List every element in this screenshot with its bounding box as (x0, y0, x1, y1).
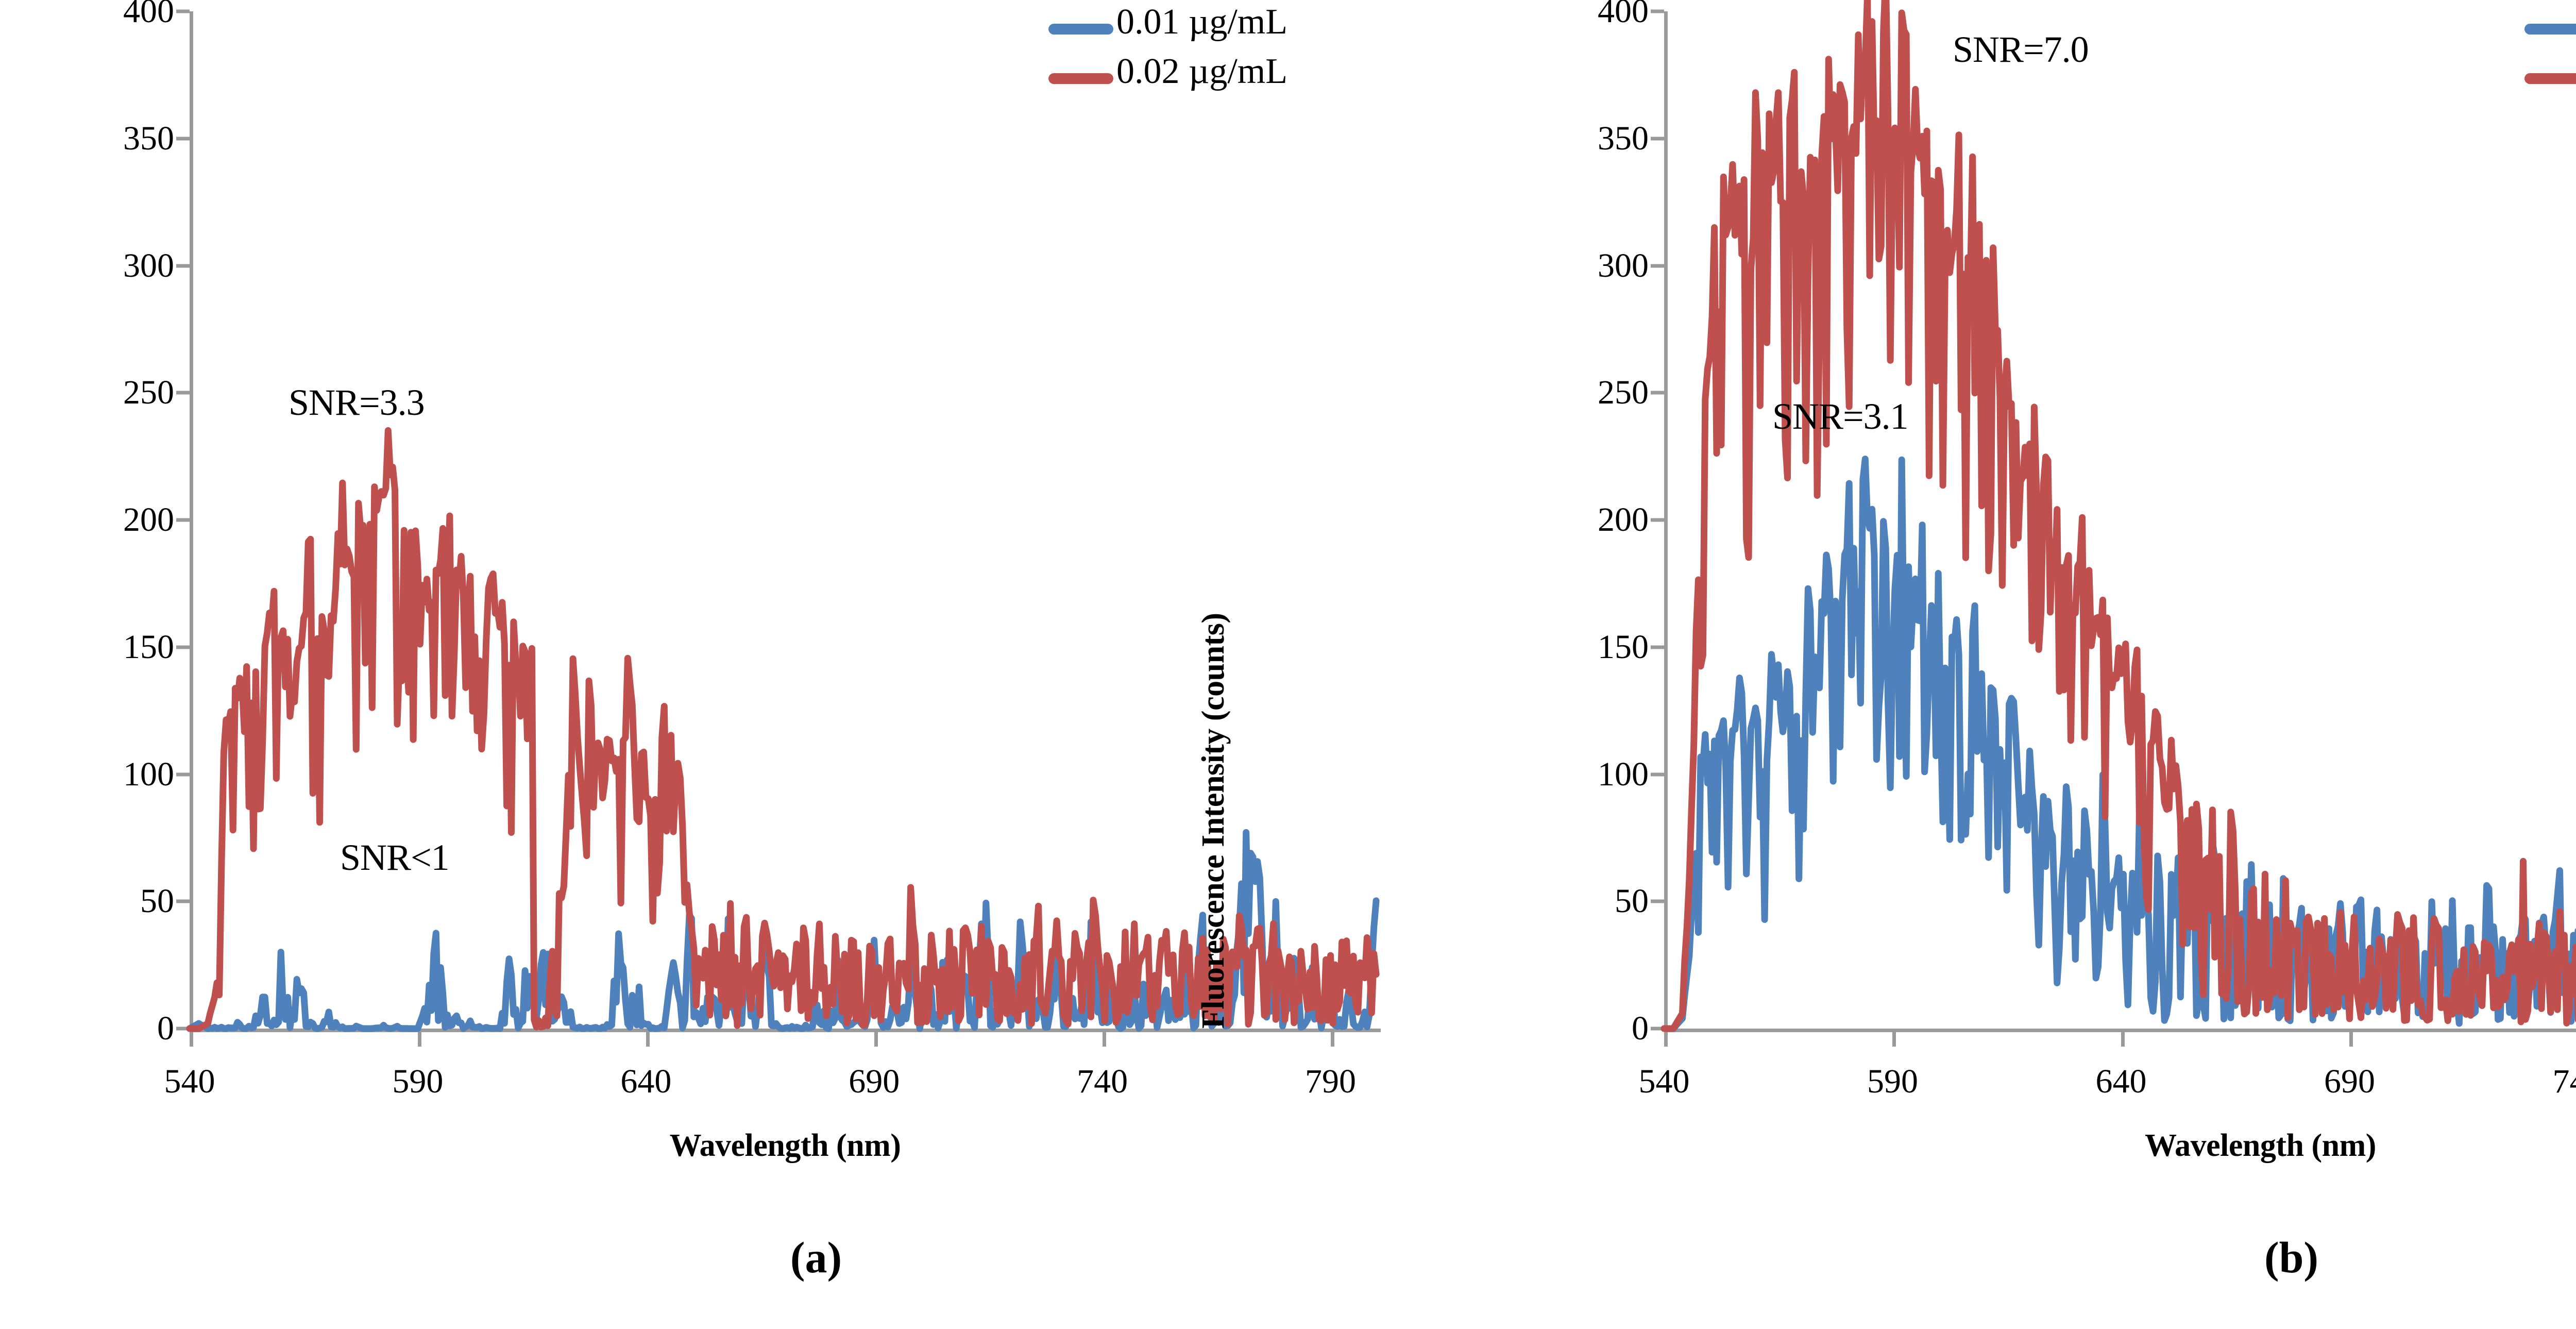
legend-swatch-b-1 (2524, 73, 2576, 84)
y-tick-mark-a-0 (176, 1027, 190, 1031)
legend-label-a-0: 0.01 µg/mL (1116, 4, 1287, 40)
y-tick-mark-a-150 (176, 645, 190, 649)
y-tick-mark-a-350 (176, 137, 190, 140)
x-tick-label-a-540: 540 (164, 1065, 215, 1099)
y-tick-label-a-100: 100 (56, 758, 174, 792)
x-tick-label-b-590: 590 (1867, 1065, 1918, 1099)
x-tick-mark-a-640 (646, 1032, 650, 1047)
y-tick-label-b-150: 150 (1530, 630, 1649, 664)
x-tick-label-b-640: 640 (2095, 1065, 2146, 1099)
x-tick-mark-b-640 (2121, 1032, 2125, 1047)
y-tick-label-a-200: 200 (56, 503, 174, 537)
y-axis-label-b: Fluorescence Intensity (counts) (1195, 613, 1232, 1029)
figure-container: Fluorescence Intensity (counts)050100150… (0, 0, 2576, 1329)
y-tick-label-a-150: 150 (56, 630, 174, 664)
y-tick-label-b-350: 350 (1530, 122, 1649, 156)
x-tick-mark-a-540 (190, 1032, 193, 1047)
y-tick-label-b-100: 100 (1530, 758, 1649, 792)
y-tick-label-a-50: 50 (56, 884, 174, 918)
series-line-b-low (1664, 459, 2576, 1029)
x-tick-label-b-540: 540 (1639, 1065, 1690, 1099)
y-tick-label-b-400: 400 (1530, 0, 1649, 28)
y-tick-label-a-350: 350 (56, 122, 174, 156)
x-tick-mark-a-740 (1103, 1032, 1106, 1047)
legend-swatch-b-0 (2524, 24, 2576, 35)
x-tick-mark-b-590 (1892, 1032, 1896, 1047)
y-tick-mark-b-400 (1651, 10, 1664, 13)
y-tick-mark-a-250 (176, 391, 190, 395)
x-tick-label-a-690: 690 (849, 1065, 900, 1099)
y-axis-line-b (1664, 11, 1668, 1029)
annotation-b-2: SNR=3.1 (1772, 398, 1908, 435)
legend-label-a-1: 0.02 µg/mL (1116, 54, 1287, 90)
y-tick-label-b-250: 250 (1530, 376, 1649, 410)
y-tick-mark-a-50 (176, 900, 190, 903)
x-axis-label-a: Wavelength (nm) (670, 1128, 901, 1164)
y-tick-label-b-300: 300 (1530, 249, 1649, 283)
x-tick-mark-a-590 (418, 1032, 421, 1047)
y-tick-mark-b-100 (1651, 772, 1664, 776)
chart-panel-b: Fluorescence Intensity (counts)050100150… (0, 0, 2576, 1329)
y-tick-mark-a-200 (176, 518, 190, 522)
y-tick-mark-b-0 (1651, 1027, 1664, 1031)
y-tick-mark-b-200 (1651, 518, 1664, 522)
y-tick-mark-a-300 (176, 264, 190, 267)
y-tick-label-b-0: 0 (1530, 1012, 1649, 1046)
x-tick-mark-b-540 (1664, 1032, 1668, 1047)
x-tick-label-a-590: 590 (392, 1065, 443, 1099)
y-tick-mark-a-100 (176, 772, 190, 776)
y-tick-label-a-0: 0 (56, 1012, 174, 1046)
y-tick-label-b-50: 50 (1530, 884, 1649, 918)
y-tick-mark-b-250 (1651, 391, 1664, 395)
y-tick-mark-b-350 (1651, 137, 1664, 140)
legend-swatch-a-1 (1048, 73, 1113, 84)
y-tick-label-a-300: 300 (56, 249, 174, 283)
y-axis-line-a (190, 11, 193, 1029)
annotation-a-1: SNR=3.3 (289, 384, 425, 421)
x-tick-label-b-690: 690 (2324, 1065, 2375, 1099)
x-tick-label-b-740: 740 (2552, 1065, 2576, 1099)
y-tick-mark-b-300 (1651, 264, 1664, 267)
x-tick-label-a-640: 640 (620, 1065, 671, 1099)
y-tick-mark-b-150 (1651, 645, 1664, 649)
series-line-b-high (1664, 0, 2576, 1029)
y-axis-ticks-a: 050100150200250300350400 (56, 0, 174, 1329)
x-axis-label-b: Wavelength (nm) (2145, 1128, 2376, 1164)
y-tick-mark-a-400 (176, 10, 190, 13)
x-axis-line-b (1664, 1029, 2576, 1032)
annotation-b-1: SNR=7.0 (1953, 31, 2089, 68)
x-tick-mark-a-790 (1331, 1032, 1334, 1047)
x-tick-mark-b-690 (2349, 1032, 2353, 1047)
legend-swatch-a-0 (1048, 24, 1113, 35)
y-tick-label-a-250: 250 (56, 376, 174, 410)
x-tick-label-a-740: 740 (1077, 1065, 1128, 1099)
x-tick-mark-a-690 (874, 1032, 878, 1047)
y-axis-ticks-b: 050100150200250300350400 (1530, 0, 1649, 1329)
x-tick-label-a-790: 790 (1305, 1065, 1356, 1099)
panel-caption-b: (b) (2264, 1232, 2318, 1283)
x-axis-line-a (190, 1029, 1381, 1032)
annotation-a-2: SNR<1 (340, 839, 449, 876)
panel-caption-a: (a) (790, 1232, 842, 1283)
y-tick-label-a-400: 400 (56, 0, 174, 28)
y-tick-mark-b-50 (1651, 900, 1664, 903)
y-tick-label-b-200: 200 (1530, 503, 1649, 537)
